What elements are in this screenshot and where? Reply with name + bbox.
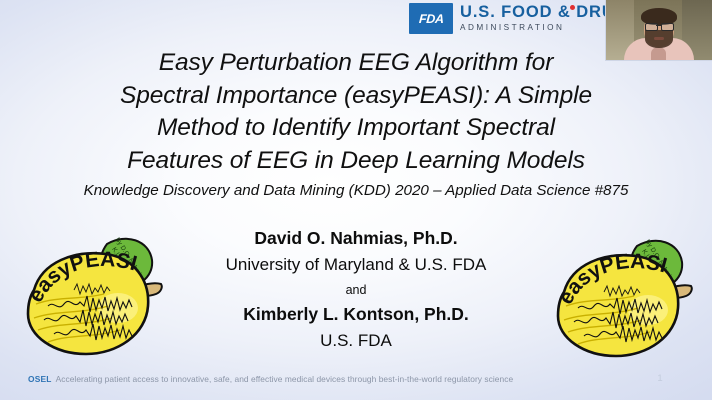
webcam-presenter-glasses-right	[661, 23, 674, 31]
easypeasi-lemon-icon: By D.O. Nahmias K.L. Kontson	[544, 236, 696, 366]
slide-footer: OSEL Accelerating patient access to inno…	[28, 374, 513, 384]
slide-page-number: 1	[650, 373, 670, 384]
webcam-presenter-glasses-bridge	[656, 25, 661, 26]
fda-logo-line2: ADMINISTRATION	[460, 22, 628, 34]
slide-title-line-2: Spectral Importance (easyPEASI): A Simpl…	[0, 80, 712, 113]
footer-tagline: Accelerating patient access to innovativ…	[56, 374, 514, 384]
easypeasi-lemon-icon: By D.O. Nahmias K.L. Kontson	[14, 234, 166, 364]
presentation-slide: FDA U.S. FOOD & DRUG ADMINISTRATION Easy…	[0, 0, 712, 400]
fda-logo-mark: FDA	[409, 3, 453, 34]
slide-subtitle: Knowledge Discovery and Data Mining (KDD…	[0, 182, 712, 199]
easypeasi-logo-left: By D.O. Nahmias K.L. Kontson	[14, 234, 166, 369]
slide-title: Easy Perturbation EEG Algorithm for Spec…	[0, 47, 712, 177]
slide-title-line-4: Features of EEG in Deep Learning Models	[0, 145, 712, 178]
fda-logo-line1: U.S. FOOD & DRUG	[460, 4, 628, 21]
footer-brand: OSEL	[28, 374, 52, 384]
fda-logo-mark-text: FDA	[418, 12, 444, 26]
fda-logo-red-dot-icon	[570, 5, 575, 10]
slide-title-line-1: Easy Perturbation EEG Algorithm for	[0, 47, 712, 80]
fda-logo-line1-text: U.S. FOOD & DRUG	[460, 3, 628, 21]
fda-logo-wordmark: U.S. FOOD & DRUG ADMINISTRATION	[460, 3, 628, 34]
fda-logo: FDA U.S. FOOD & DRUG ADMINISTRATION	[409, 3, 628, 34]
slide-title-line-3: Method to Identify Important Spectral	[0, 112, 712, 145]
webcam-presenter-mouth	[654, 37, 664, 40]
easypeasi-logo-right: By D.O. Nahmias K.L. Kontson	[544, 236, 696, 371]
